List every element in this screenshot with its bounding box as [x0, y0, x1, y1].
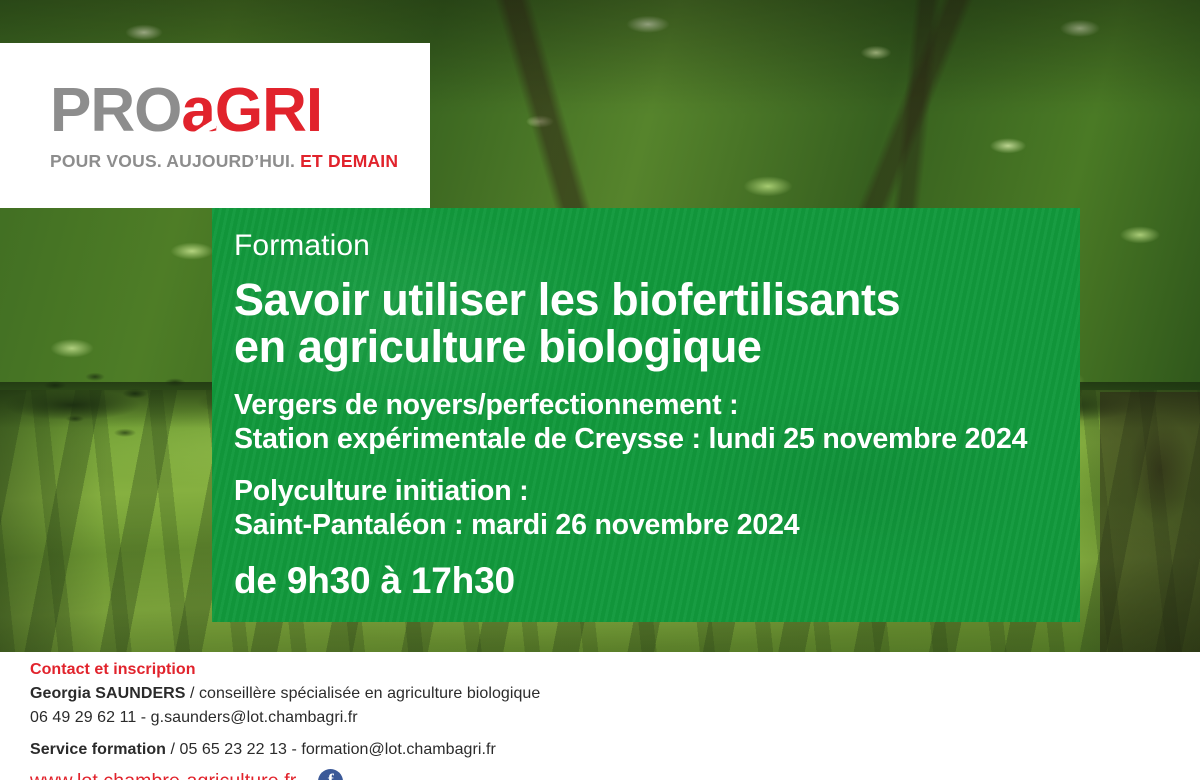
wordmark-gri: GRI: [215, 80, 322, 142]
contact-block: Contact et inscription Georgia SAUNDERS …: [30, 658, 710, 780]
contact-person-name: Georgia SAUNDERS: [30, 685, 186, 702]
proagri-wordmark: PROaGRI: [50, 80, 430, 142]
session-heading: Polyculture initiation :: [234, 474, 1080, 508]
session-hours: de 9h30 à 17h30: [234, 562, 1080, 601]
panel-kicker: Formation: [234, 230, 1080, 262]
service-formation-label: Service formation: [30, 741, 166, 758]
session-heading: Vergers de noyers/perfectionnement :: [234, 388, 1080, 422]
wordmark-pro: PRO: [50, 80, 181, 142]
session-detail: Station expérimentale de Creysse : lundi…: [234, 422, 1080, 456]
proagri-tagline: POUR VOUS. AUJOURD’HUI. ET DEMAIN: [50, 151, 430, 172]
panel-title-line-1: Savoir utiliser les biofertilisants: [234, 276, 1080, 324]
website-link[interactable]: www.lot.chambre-agriculture.fr: [30, 769, 296, 780]
footer: Contact et inscription Georgia SAUNDERS …: [0, 652, 1200, 780]
contact-person: Georgia SAUNDERS / conseillère spécialis…: [30, 682, 710, 706]
wordmark-a-letter: a: [181, 76, 214, 145]
panel-title: Savoir utiliser les biofertilisants en a…: [234, 276, 1080, 371]
proagri-logo-plate: PROaGRI POUR VOUS. AUJOURD’HUI. ET DEMAI…: [0, 43, 430, 208]
facebook-icon[interactable]: f: [318, 769, 343, 780]
tagline-grey: POUR VOUS. AUJOURD’HUI.: [50, 151, 295, 171]
contact-person-role: / conseillère spécialisée en agriculture…: [186, 685, 541, 702]
poster: PROaGRI POUR VOUS. AUJOURD’HUI. ET DEMAI…: [0, 0, 1200, 780]
panel-title-line-2: en agriculture biologique: [234, 323, 1080, 371]
training-info-panel: Formation Savoir utiliser les biofertili…: [212, 208, 1080, 622]
session-item: Vergers de noyers/perfectionnement : Sta…: [234, 388, 1080, 456]
website-row: www.lot.chambre-agriculture.fr f: [30, 769, 710, 780]
service-formation: Service formation / 05 65 23 22 13 - for…: [30, 738, 710, 762]
session-item: Polyculture initiation : Saint-Pantaléon…: [234, 474, 1080, 542]
session-detail: Saint-Pantaléon : mardi 26 novembre 2024: [234, 508, 1080, 542]
wordmark-a: a: [181, 80, 214, 142]
session-list: Vergers de noyers/perfectionnement : Sta…: [234, 388, 1080, 543]
contact-heading: Contact et inscription: [30, 658, 710, 682]
service-formation-details[interactable]: / 05 65 23 22 13 - formation@lot.chambag…: [166, 741, 496, 758]
tagline-red: ET DEMAIN: [300, 151, 398, 171]
contact-phone-email[interactable]: 06 49 29 62 11 - g.saunders@lot.chambagr…: [30, 706, 710, 730]
